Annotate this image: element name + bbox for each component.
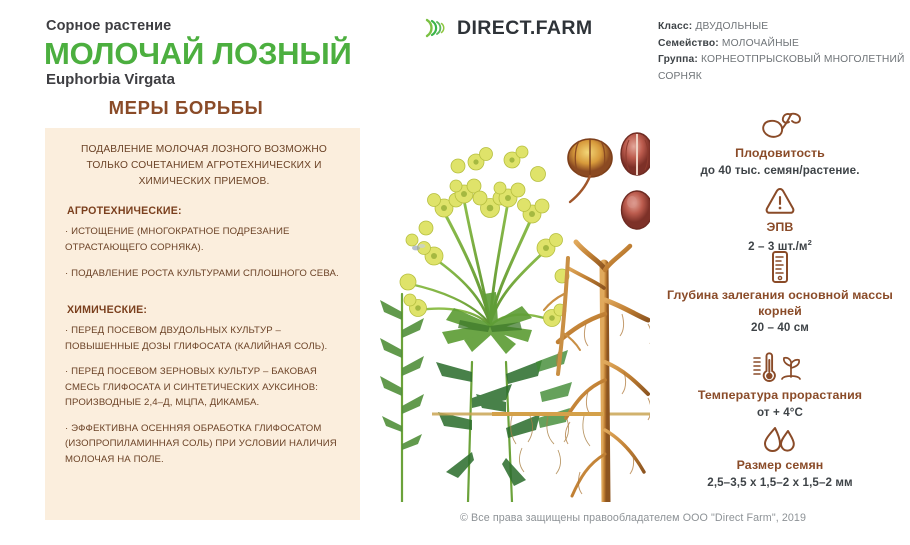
taxonomy-row-family: Семейство: МОЛОЧАЙНЫЕ: [658, 36, 910, 53]
section-heading: АГРОТЕХНИЧЕСКИЕ:: [67, 205, 343, 217]
seed-whole: [622, 191, 651, 229]
seed-split: [621, 133, 650, 175]
section-chemical: ХИМИЧЕСКИЕ: · ПЕРЕД ПОСЕВОМ ДВУДОЛЬНЫХ К…: [65, 304, 343, 467]
wave-lines-icon: [424, 16, 446, 40]
thermometer-sprout-icon: [650, 350, 910, 384]
stat-etl: ЭПВ 2 – 3 шт./м2: [650, 182, 910, 252]
stat-title: Глубина залегания основной массы корней: [650, 288, 910, 319]
section-title-measures: МЕРЫ БОРЬБЫ: [0, 97, 372, 119]
bullet-item: · ПЕРЕД ПОСЕВОМ ЗЕРНОВЫХ КУЛЬТУР – БАКОВ…: [65, 364, 343, 411]
kicker-label: Сорное растение: [46, 18, 171, 34]
stat-seed-size: Размер семян 2,5–3,5 x 1,5–2 x 1,5–2 мм: [650, 420, 910, 489]
spacer: [65, 291, 343, 304]
stat-root-depth: Глубина залегания основной массы корней …: [650, 250, 910, 334]
bullet-item: · ЭФФЕКТИВНА ОСЕННЯЯ ОБРАБОТКА ГЛИФОСАТО…: [65, 421, 343, 468]
taxonomy-row-group: Группа: КОРНЕОТПРЫСКОВЫЙ МНОГОЛЕТНИЙ СОР…: [658, 52, 910, 85]
stat-fertility: Плодовитость до 40 тыс. семян/растение.: [650, 108, 910, 177]
stat-value: 20 – 40 см: [650, 321, 910, 334]
left-column: Сорное растение МОЛОЧАЙ ЛОЗНЫЙ Euphorbia…: [0, 0, 372, 545]
taxonomy-value: ДВУДОЛЬНЫЕ: [692, 21, 768, 32]
copyright-footer: © Все права защищены правообладателем ОО…: [460, 512, 806, 524]
right-column: Класс: ДВУДОЛЬНЫЕ Семейство: МОЛОЧАЙНЫЕ …: [650, 0, 910, 545]
fruit-capsule: [568, 139, 612, 202]
stat-title: ЭПВ: [650, 220, 910, 236]
taxonomy-row-class: Класс: ДВУДОЛЬНЫЕ: [658, 19, 910, 36]
logo-text: DIRECT.FARM: [457, 17, 592, 40]
taxonomy-block: Класс: ДВУДОЛЬНЫЕ Семейство: МОЛОЧАЙНЫЕ …: [658, 19, 910, 86]
ruler-icon: [650, 250, 910, 284]
bullet-item: · ИСТОЩЕНИЕ (МНОГОКРАТНОЕ ПОДРЕЗАНИЕ ОТР…: [65, 224, 343, 255]
stat-title: Размер семян: [650, 458, 910, 474]
taxonomy-value: МОЛОЧАЙНЫЕ: [719, 38, 799, 49]
brand-logo[interactable]: DIRECT.FARM: [424, 16, 592, 40]
section-agrotechnical: АГРОТЕХНИЧЕСКИЕ: · ИСТОЩЕНИЕ (МНОГОКРАТН…: [65, 205, 343, 281]
taxonomy-label: Класс:: [658, 21, 692, 32]
euphorbia-virgata-botanical-illustration: [372, 62, 650, 502]
taxonomy-label: Группа:: [658, 54, 698, 65]
page-title: МОЛОЧАЙ ЛОЗНЫЙ: [44, 36, 352, 72]
bullet-item: · ПОДАВЛЕНИЕ РОСТА КУЛЬТУРАМИ СПЛОШНОГО …: [65, 266, 343, 282]
bullet-item: · ПЕРЕД ПОСЕВОМ ДВУДОЛЬНЫХ КУЛЬТУР – ПОВ…: [65, 323, 343, 354]
two-seeds-icon: [650, 420, 910, 454]
stat-value: от + 4°C: [650, 406, 910, 419]
panel-intro-text: ПОДАВЛЕНИЕ МОЛОЧАЯ ЛОЗНОГО ВОЗМОЖНО ТОЛЬ…: [69, 142, 339, 189]
stat-title: Температура прорастания: [650, 388, 910, 404]
latin-name: Euphorbia Virgata: [46, 71, 175, 88]
stat-germination-temperature: Температура прорастания от + 4°C: [650, 350, 910, 419]
taxonomy-label: Семейство:: [658, 38, 719, 49]
infographic-page: Сорное растение МОЛОЧАЙ ЛОЗНЫЙ Euphorbia…: [0, 0, 910, 545]
stat-title: Плодовитость: [650, 146, 910, 162]
section-heading: ХИМИЧЕСКИЕ:: [67, 304, 343, 316]
warning-triangle-icon: [650, 182, 910, 216]
stat-value: до 40 тыс. семян/растение.: [650, 164, 910, 177]
seed-sprout-icon: [650, 108, 910, 142]
control-measures-panel: ПОДАВЛЕНИЕ МОЛОЧАЯ ЛОЗНОГО ВОЗМОЖНО ТОЛЬ…: [45, 128, 360, 520]
plant-drawing: [372, 62, 650, 502]
stat-value-superscript: 2: [808, 238, 812, 247]
stat-value: 2,5–3,5 x 1,5–2 x 1,5–2 мм: [650, 476, 910, 489]
